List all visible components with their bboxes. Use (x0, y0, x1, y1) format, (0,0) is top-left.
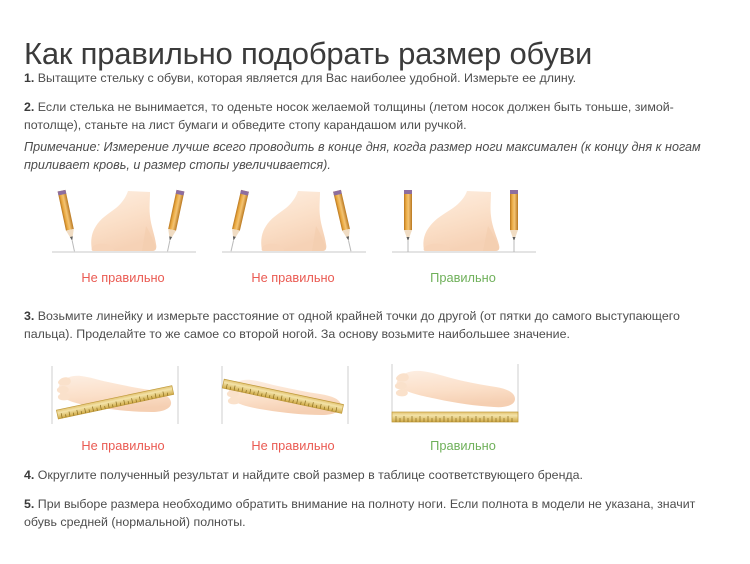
foot-top-with-horizontal-ruler-icon (378, 362, 548, 434)
step-4-paragraph: 4. Округлите полученный результат и найд… (24, 467, 730, 485)
step-1-text: Вытащите стельку с обуви, которая являет… (34, 71, 576, 85)
step-3-number: 3. (24, 309, 34, 323)
step-5-paragraph: 5. При выборе размера необходимо обратит… (24, 496, 730, 531)
page-root: Как правильно подобрать размер обуви 1. … (0, 0, 750, 564)
step-5-text: При выборе размера необходимо обратить в… (24, 497, 695, 529)
caption-wrong-4: Не правильно (208, 438, 378, 453)
step-2-number: 2. (24, 100, 34, 114)
step-1-number: 1. (24, 71, 34, 85)
foot-side-with-vertical-pencils-icon (378, 186, 548, 264)
step-4-text: Округлите полученный результат и найдите… (34, 468, 583, 482)
step-5-number: 5. (24, 497, 34, 511)
step-3-text: Возьмите линейку и измерьте расстояние о… (24, 309, 680, 341)
note-paragraph: Примечание: Измерение лучше всего провод… (24, 139, 730, 175)
step-3-paragraph: 3. Возьмите линейку и измерьте расстояни… (24, 308, 730, 343)
step-1-paragraph: 1. Вытащите стельку с обуви, которая явл… (24, 70, 730, 88)
caption-right-1: Правильно (378, 270, 548, 285)
ruler-illustration-captions: Не правильно Не правильно Правильно (0, 438, 750, 456)
caption-wrong-3: Не правильно (38, 438, 208, 453)
foot-side-with-tilted-pencils-inward-icon (208, 186, 378, 264)
caption-wrong-1: Не правильно (38, 270, 208, 285)
caption-wrong-2: Не правильно (208, 270, 378, 285)
page-title: Как правильно подобрать размер обуви (24, 37, 592, 72)
pencil-illustration-captions: Не правильно Не правильно Правильно (0, 270, 750, 288)
foot-top-with-tilted-ruler-down-icon (208, 362, 378, 434)
step-4-number: 4. (24, 468, 34, 482)
foot-top-with-tilted-ruler-up-icon (38, 362, 208, 434)
caption-right-2: Правильно (378, 438, 548, 453)
ruler-measuring-illustrations (0, 362, 750, 434)
pencil-tracing-illustrations (0, 186, 750, 264)
step-2-text: Если стелька не вынимается, то оденьте н… (24, 100, 674, 132)
foot-side-with-tilted-pencils-outward-icon (38, 186, 208, 264)
step-2-paragraph: 2. Если стелька не вынимается, то оденьт… (24, 99, 730, 134)
